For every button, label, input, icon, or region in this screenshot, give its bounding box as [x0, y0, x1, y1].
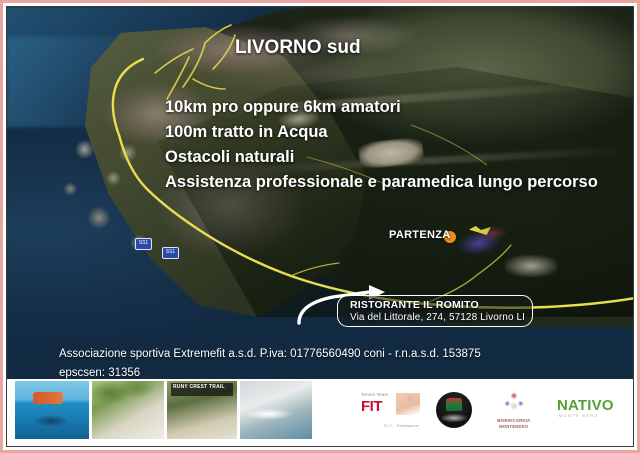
partenza-label: PARTENZA: [389, 229, 450, 241]
route-shield-ss1-b: SS1: [162, 247, 179, 259]
footer-line-association: Associazione sportiva Extremefit a.s.d. …: [59, 345, 579, 364]
sponsor-logo-strip: Tennis Team FIT F.I.T. - Federazione MIS…: [359, 383, 634, 437]
fit-logo-top-text: Tennis Team: [361, 392, 388, 397]
surf-foam: [240, 407, 312, 421]
poster-inner-frame: SS1 SS1 PARTENZA LIVORNO sud 10km pro op…: [6, 6, 634, 447]
city-road-d: [167, 57, 189, 99]
rock-scramble-photo: RUNY CREST TRAIL: [167, 381, 237, 439]
race-detail-water: 100m tratto in Acqua: [165, 120, 634, 145]
race-detail-obstacles: Ostacoli naturali: [165, 145, 634, 170]
minor-road-a: [293, 263, 339, 275]
city-road-c: [205, 25, 231, 43]
underwater-swimmer-photo: [15, 381, 89, 439]
region-title: LIVORNO sud: [235, 37, 361, 59]
crest-logo-line2: MONTENERO: [488, 424, 540, 429]
restaurant-address: Via del Littorale, 274, 57128 Livorno LI: [350, 312, 532, 323]
event-tag-label: RUNY CREST TRAIL: [173, 384, 225, 390]
rocky-surf-photo: [240, 381, 312, 439]
raft-shape: [33, 392, 63, 404]
race-details-list: 10km pro oppure 6km amatori 100m tratto …: [165, 95, 634, 195]
bottom-band: RUNY CREST TRAIL Tennis Team FIT F.I.T. …: [7, 379, 634, 447]
scrub-vegetation: [92, 381, 164, 421]
organization-footer: Associazione sportiva Extremefit a.s.d. …: [59, 345, 579, 379]
satellite-map: SS1 SS1 PARTENZA LIVORNO sud 10km pro op…: [7, 7, 634, 379]
photo-thumbnail-strip: RUNY CREST TRAIL: [15, 381, 315, 439]
coastal-road-north: [113, 59, 143, 135]
race-detail-distance: 10km pro oppure 6km amatori: [165, 95, 634, 120]
fit-logo: Tennis Team FIT F.I.T. - Federazione: [359, 389, 421, 431]
fit-logo-sub-text: F.I.T. - Federazione: [384, 424, 419, 428]
restaurant-name: RISTORANTE IL ROMITO: [350, 299, 532, 311]
coastal-trail-photo: [92, 381, 164, 439]
city-road-f: [193, 79, 225, 89]
crest-logo: MISERICORDIA MONTENERO: [488, 389, 540, 431]
nativo-logo-wordmark: NATIVO: [557, 397, 614, 414]
swimmer-shape: [33, 415, 69, 427]
crest-graphic: [500, 390, 528, 416]
crest-logo-line1: MISERICORDIA: [488, 418, 540, 423]
poster-frame: SS1 SS1 PARTENZA LIVORNO sud 10km pro op…: [0, 0, 640, 453]
fit-logo-graphic: [396, 393, 420, 415]
badge-circle-graphic: [436, 392, 472, 428]
race-detail-assistance: Assistenza professionale e paramedica lu…: [165, 170, 634, 195]
restaurant-callout: RISTORANTE IL ROMITO Via del Littorale, …: [337, 295, 533, 327]
fit-logo-wordmark: FIT: [361, 398, 382, 415]
nativo-logo-sub-text: MONTE NERO: [559, 414, 599, 418]
route-shield-ss1-a: SS1: [135, 238, 152, 250]
nativo-logo: NATIVO MONTE NERO: [553, 389, 634, 431]
circular-badge-logo: [434, 389, 474, 431]
city-road-e: [213, 35, 235, 69]
footer-line-epscsen: epscsen: 31356: [59, 364, 579, 379]
